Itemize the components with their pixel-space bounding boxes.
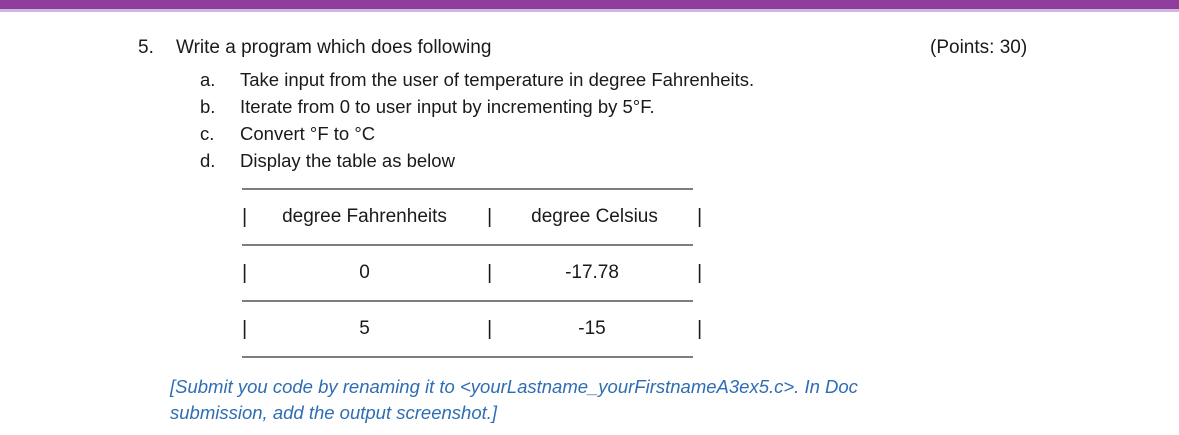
sub-item-a-letter: a. [200, 66, 240, 93]
submission-note: [Submit you code by renaming it to <your… [170, 374, 1000, 426]
sub-item-d-text: Display the table as below [240, 147, 455, 174]
table-header-celsius: degree Celsius [487, 196, 702, 238]
sub-item-b-text: Iterate from 0 to user input by incremen… [240, 93, 655, 120]
sub-item-c: c. Convert °F to °C [200, 120, 1179, 147]
table-rule-row-1 [242, 294, 702, 308]
sub-item-c-letter: c. [200, 120, 240, 147]
sub-item-a-text: Take input from the user of temperature … [240, 66, 754, 93]
submission-note-line-2: submission, add the output screenshot.] [170, 400, 1000, 426]
top-decorative-bar-accent [0, 9, 1179, 12]
table-cell-fahrenheit: 5 [242, 308, 487, 350]
table-rule-top [242, 182, 702, 196]
question-text: Write a program which does following [176, 34, 491, 62]
table-rule-bottom [242, 350, 702, 364]
submission-note-line-1: [Submit you code by renaming it to <your… [170, 374, 1000, 400]
table-cell-celsius: -15 [487, 308, 697, 350]
question-sub-list: a. Take input from the user of temperatu… [0, 66, 1179, 174]
sub-item-c-text: Convert °F to °C [240, 120, 375, 147]
sub-item-b: b. Iterate from 0 to user input by incre… [200, 93, 1179, 120]
table-cell-fahrenheit: 0 [242, 252, 487, 294]
table-pipe-right: | [697, 308, 702, 350]
sub-item-b-letter: b. [200, 93, 240, 120]
sub-item-a: a. Take input from the user of temperatu… [200, 66, 1179, 93]
table-rule-under-header [242, 238, 702, 252]
sub-item-d-letter: d. [200, 147, 240, 174]
ascii-output-table: | degree Fahrenheits | degree Celsius | … [242, 182, 702, 364]
question-block: 5. Write a program which does following … [0, 34, 1179, 174]
table-cell-celsius: -17.78 [487, 252, 697, 294]
table-header-fahrenheit: degree Fahrenheits [242, 196, 487, 238]
table-row: | 5 | -15 | [242, 308, 702, 350]
top-decorative-bar [0, 0, 1179, 9]
table-pipe-right: | [697, 196, 702, 238]
question-number: 5. [138, 34, 176, 62]
question-points: (Points: 30) [930, 34, 1027, 62]
question-main-row: 5. Write a program which does following … [0, 34, 1179, 62]
table-pipe-right: | [697, 252, 702, 294]
table-header-row: | degree Fahrenheits | degree Celsius | [242, 196, 702, 238]
table-row: | 0 | -17.78 | [242, 252, 702, 294]
sub-item-d: d. Display the table as below [200, 147, 1179, 174]
